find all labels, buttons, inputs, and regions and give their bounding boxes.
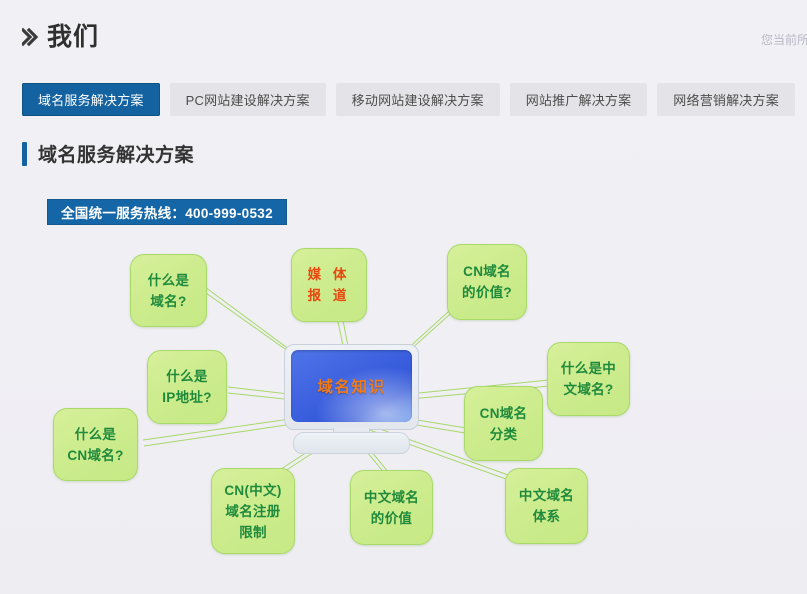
tab-domain-service[interactable]: 域名服务解决方案 [22, 83, 160, 116]
node-label: 什么是 IP地址? [158, 366, 216, 408]
tab-pc-website[interactable]: PC网站建设解决方案 [170, 83, 326, 116]
node-label: 什么是 域名? [144, 270, 193, 312]
page-header: 我们 您当前所 [0, 0, 807, 74]
tab-mobile-website[interactable]: 移动网站建设解决方案 [336, 83, 500, 116]
section-heading: 域名服务解决方案 [22, 140, 194, 167]
double-chevron-right-icon [22, 26, 38, 48]
node-label: 中文域名 体系 [515, 485, 578, 527]
tab-website-promotion[interactable]: 网站推广解决方案 [510, 83, 648, 116]
node-chinese-domain-value[interactable]: 中文域名 的价值 [350, 470, 433, 545]
section-title-text: 域名服务解决方案 [38, 140, 194, 167]
tab-network-marketing[interactable]: 网络营销解决方案 [657, 83, 795, 116]
node-what-is-cn-domain[interactable]: 什么是 CN域名? [53, 408, 138, 481]
node-media-report[interactable]: 媒 体 报 道 [291, 248, 367, 322]
node-chinese-domain-system[interactable]: 中文域名 体系 [505, 468, 588, 544]
page-title: 我们 [22, 23, 99, 51]
node-label: 什么是中 文域名? [557, 358, 620, 400]
node-what-is-domain[interactable]: 什么是 域名? [130, 254, 207, 327]
center-node-label: 域名知识 [317, 375, 385, 397]
domain-knowledge-diagram: 域名知识 什么是 域名? 媒 体 报 道 CN域名 的价值? 什么是 IP地址?… [0, 232, 807, 572]
node-label: 中文域名 的价值 [360, 487, 423, 529]
node-label: CN域名 的价值? [458, 261, 516, 303]
node-cn-domain-value[interactable]: CN域名 的价值? [447, 244, 527, 320]
solution-tabs: 域名服务解决方案 PC网站建设解决方案 移动网站建设解决方案 网站推广解决方案 … [22, 83, 795, 116]
diagram-center-monitor: 域名知识 [284, 344, 419, 452]
section-accent-bar [22, 142, 27, 166]
node-label: 什么是 CN域名? [63, 424, 127, 466]
monitor-screen: 域名知识 [291, 350, 412, 422]
node-what-is-ip[interactable]: 什么是 IP地址? [147, 350, 227, 424]
node-label: CN域名 分类 [476, 403, 532, 445]
node-label: CN(中文) 域名注册 限制 [220, 480, 285, 543]
breadcrumb: 您当前所 [761, 31, 807, 48]
page-title-text: 我们 [47, 23, 99, 51]
node-cn-chinese-register-limit[interactable]: CN(中文) 域名注册 限制 [211, 468, 295, 554]
page-root: 我们 您当前所 域名服务解决方案 PC网站建设解决方案 移动网站建设解决方案 网… [0, 0, 807, 594]
node-what-is-chinese-domain[interactable]: 什么是中 文域名? [547, 342, 630, 416]
hotline-banner: 全国统一服务热线：400-999-0532 [47, 199, 287, 225]
monitor-base [293, 432, 410, 454]
node-label: 媒 体 报 道 [304, 264, 355, 306]
node-cn-domain-category[interactable]: CN域名 分类 [464, 386, 543, 461]
